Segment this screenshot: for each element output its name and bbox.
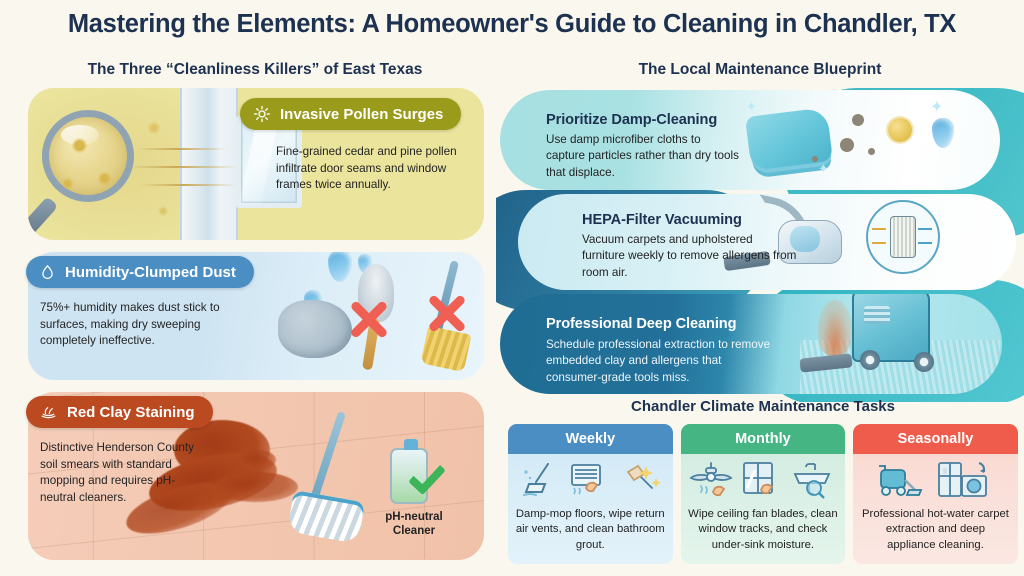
column-header-monthly: Monthly [681,424,846,454]
card-hepa-vacuuming: HEPA-Filter Vacuuming Vacuum carpets and… [518,194,1016,290]
window-wipe-icon [737,460,783,500]
clay-residue-wisp [818,300,852,356]
infographic-page: Mastering the Elements: A Homeowner's Gu… [0,0,1024,576]
cleanliness-killers-column: Invasive Pollen Surges Fine-grained ceda… [28,88,484,560]
water-drop-icon [39,263,56,281]
maintenance-tasks-table: Weekly [508,424,1018,564]
pollen-spore [64,180,71,187]
badge-invasive-pollen[interactable]: Invasive Pollen Surges [240,98,461,130]
carpet-extractor-icon [871,460,923,500]
pollen-spore [100,174,109,183]
pollen-particle [888,118,912,142]
hepa-body: Vacuum carpets and upholstered furniture… [582,232,798,281]
air-vent-wipe-icon [566,460,612,500]
table-column-weekly[interactable]: Weekly [508,424,673,564]
wind-line [128,166,238,168]
dust-particle [840,138,854,152]
pollen-spore [160,208,166,214]
humidity-description: 75%+ humidity makes dust stick to surfac… [40,300,252,350]
maintenance-blueprint-column: ✦ ✦ ✦ Prioritize Damp-Cleaning Use damp … [496,84,1024,404]
tasks-table-title: Chandler Climate Maintenance Tasks [510,398,1016,415]
badge-humidity-dust[interactable]: Humidity-Clumped Dust [26,256,254,288]
wind-line [140,184,236,186]
clay-splash-icon [39,403,58,421]
ceiling-fan-icon [687,460,735,500]
section-heading-right: The Local Maintenance Blueprint [510,61,1010,79]
scrub-brush-sparkle-icon [620,460,664,500]
weekly-icons [508,454,673,502]
water-droplet [328,252,352,282]
dust-particle [852,114,864,126]
wind-line [136,148,228,150]
seasonally-icons [853,454,1018,502]
sun-icon [253,105,271,123]
table-column-monthly[interactable]: Monthly [681,424,846,564]
extractor-vent [864,306,890,324]
professional-heading: Professional Deep Cleaning [546,316,736,332]
prohibited-x-icon [346,296,392,342]
hepa-filter-icon [890,216,916,258]
airflow-arrow [918,242,932,244]
professional-body: Schedule professional extraction to remo… [546,337,778,386]
pollen-spore [150,124,158,132]
airflow-arrow [872,242,886,244]
water-droplet [932,118,954,148]
magnifier-handle [28,196,58,236]
column-header-seasonally: Seasonally [853,424,1018,454]
extractor-wheel [860,350,880,370]
column-header-weekly: Weekly [508,424,673,454]
cleaner-label-line1: pH-neutral [385,511,443,523]
clay-stain [240,450,276,470]
extractor-wheel [914,352,934,372]
clay-description: Distinctive Henderson County soil smears… [40,440,208,506]
airflow-arrow [872,228,886,230]
card-damp-cleaning: ✦ ✦ ✦ Prioritize Damp-Cleaning Use damp … [500,90,1000,190]
dust-particle [868,148,875,155]
airflow-arrow [918,228,932,230]
badge-label: Invasive Pollen Surges [280,106,443,123]
cleaner-bottle-label: pH-neutral Cleaner [378,510,450,539]
table-column-seasonally[interactable]: Seasonally [853,424,1018,564]
badge-label: Red Clay Staining [67,404,195,421]
seasonally-tasks-text: Professional hot-water carpet extraction… [853,502,1018,564]
cleaner-label-line2: Cleaner [393,525,435,537]
door-illustration [180,88,238,240]
section-heading-left: The Three “Cleanliness Killers” of East … [30,61,480,79]
damp-cleaning-body: Use damp microfiber cloths to capture pa… [546,132,742,181]
badge-label: Humidity-Clumped Dust [65,264,236,281]
pollen-spore [74,140,85,151]
appliance-icon [935,460,993,500]
prohibited-x-icon [424,290,470,336]
sparkle-icon: ✦ [930,100,943,116]
badge-red-clay[interactable]: Red Clay Staining [26,396,213,428]
sparkle-icon: ✦ [746,100,757,113]
mop-icon [520,460,560,500]
damp-cleaning-heading: Prioritize Damp-Cleaning [546,112,717,128]
magnifier-icon [42,110,134,202]
sparkle-icon: ✦ [818,162,829,175]
clay-stain [214,472,298,502]
pollen-description: Fine-grained cedar and pine pollen infil… [276,144,466,194]
weekly-tasks-text: Damp-mop floors, wipe return air vents, … [508,502,673,564]
hepa-heading: HEPA-Filter Vacuuming [582,212,742,228]
monthly-tasks-text: Wipe ceiling fan blades, clean window tr… [681,502,846,564]
card-professional-cleaning: Professional Deep Cleaning Schedule prof… [500,294,1002,394]
sink-inspect-icon [789,460,837,500]
dust-clump-icon [278,300,352,358]
page-title: Mastering the Elements: A Homeowner's Gu… [0,10,1024,39]
monthly-icons [681,454,846,502]
